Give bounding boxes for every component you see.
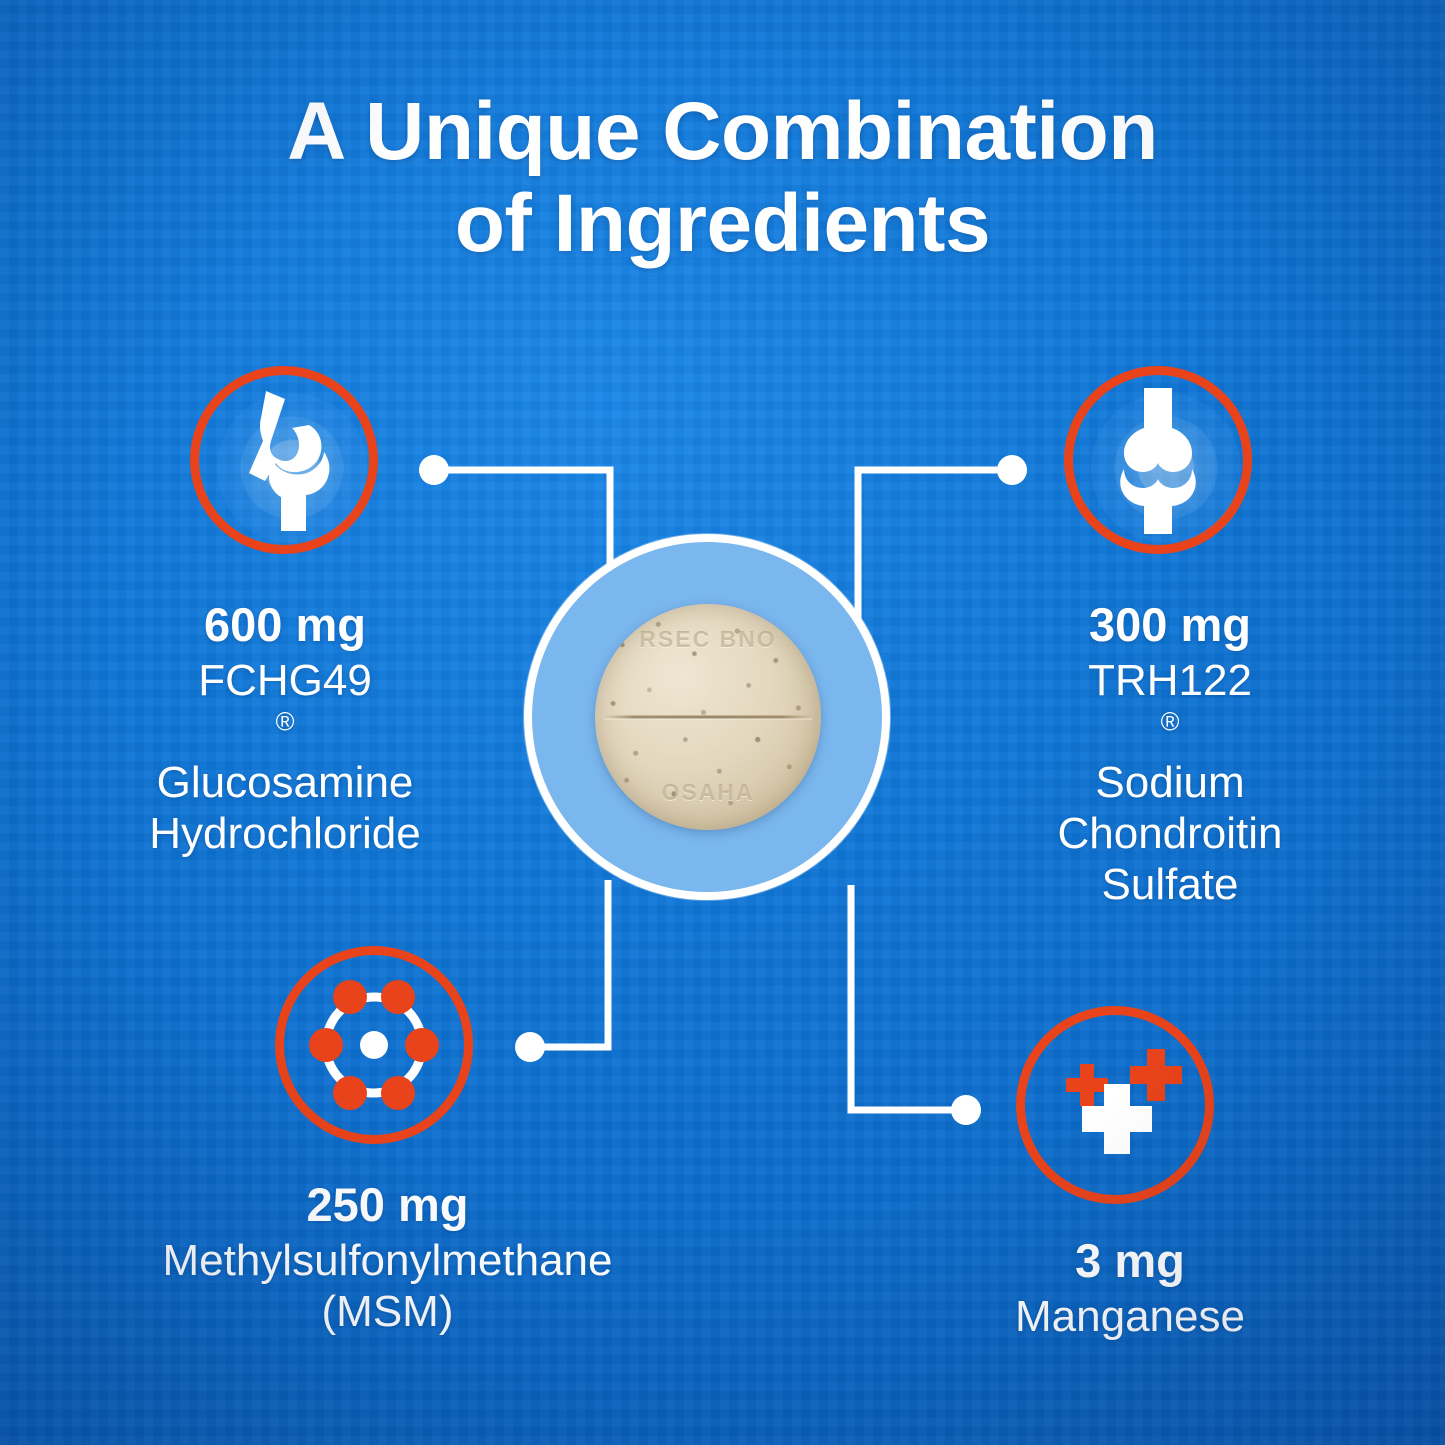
medical-cross-icon bbox=[1040, 1030, 1190, 1180]
tablet-image: RSEC BNO OSAHA bbox=[595, 604, 821, 830]
wire-bottom-left bbox=[541, 880, 608, 1047]
wire-dot-bottom-left bbox=[515, 1032, 545, 1062]
dose-msm: 250 mg bbox=[75, 1178, 700, 1233]
name-manganese: Manganese bbox=[930, 1291, 1330, 1342]
dose-glucosamine: 600 mg bbox=[60, 598, 510, 653]
label-glucosamine: 600 mg FCHG49® Glucosamine Hydrochloride bbox=[60, 598, 510, 859]
label-msm: 250 mg Methylsulfonylmethane (MSM) bbox=[75, 1178, 700, 1337]
knee-joint-straight-icon bbox=[1098, 384, 1218, 536]
name-line-1: Methylsulfonylmethane bbox=[75, 1235, 700, 1286]
brand-text: TRH122 bbox=[960, 655, 1380, 706]
icon-badge-chondroitin[interactable] bbox=[1064, 366, 1252, 554]
name-line-3: Sulfate bbox=[960, 859, 1380, 910]
wire-dot-top-left bbox=[419, 455, 449, 485]
brand-glucosamine: FCHG49® bbox=[60, 655, 510, 757]
dose-manganese: 3 mg bbox=[930, 1234, 1330, 1289]
knee-joint-bent-icon bbox=[219, 385, 349, 535]
icon-badge-glucosamine[interactable] bbox=[190, 366, 378, 554]
wire-bottom-right bbox=[851, 885, 955, 1110]
tablet-score-line bbox=[604, 716, 812, 719]
brand-chondroitin: TRH122® bbox=[960, 655, 1380, 757]
registered-mark: ® bbox=[1161, 708, 1180, 736]
name-glucosamine: FCHG49® Glucosamine Hydrochloride bbox=[60, 655, 510, 859]
name-line-1: Glucosamine bbox=[60, 757, 510, 808]
name-line-1: Sodium bbox=[960, 757, 1380, 808]
wire-dot-bottom-right bbox=[951, 1095, 981, 1125]
wire-dot-top-right bbox=[997, 455, 1027, 485]
name-line-2: Chondroitin bbox=[960, 808, 1380, 859]
brand-text: FCHG49 bbox=[60, 655, 510, 706]
name-line-2: Hydrochloride bbox=[60, 808, 510, 859]
infographic-canvas: A Unique Combination of Ingredients RSEC… bbox=[0, 0, 1445, 1445]
label-manganese: 3 mg Manganese bbox=[930, 1234, 1330, 1342]
icon-badge-msm[interactable] bbox=[275, 946, 473, 1144]
icon-badge-manganese[interactable] bbox=[1016, 1006, 1214, 1204]
name-msm: Methylsulfonylmethane (MSM) bbox=[75, 1235, 700, 1337]
name-chondroitin: TRH122® Sodium Chondroitin Sulfate bbox=[960, 655, 1380, 910]
name-line-2: (MSM) bbox=[75, 1286, 700, 1337]
label-chondroitin: 300 mg TRH122® Sodium Chondroitin Sulfat… bbox=[960, 598, 1380, 910]
dose-chondroitin: 300 mg bbox=[960, 598, 1380, 653]
name-line-1: Manganese bbox=[930, 1291, 1330, 1342]
registered-mark: ® bbox=[276, 708, 295, 736]
molecule-icon bbox=[299, 970, 449, 1120]
